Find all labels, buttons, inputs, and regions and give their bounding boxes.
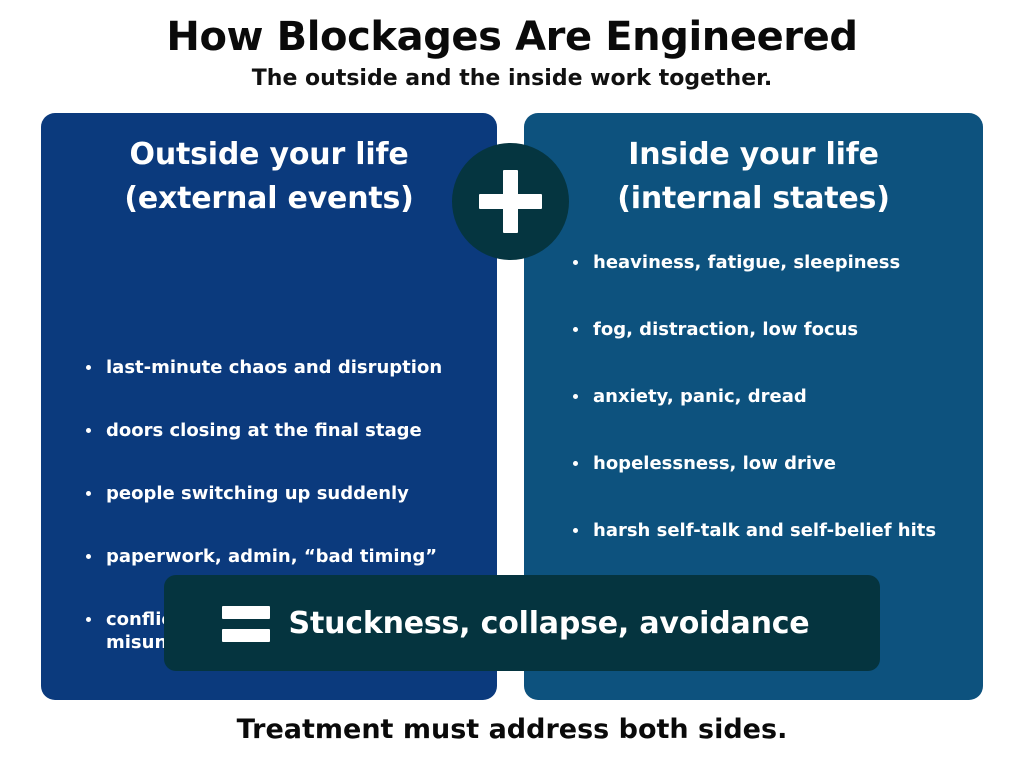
plus-icon-vertical-bar [503,170,518,233]
equals-icon-bottom-bar [222,629,270,642]
list-item: fog, distraction, low focus [573,318,971,341]
right-panel-heading-line1: Inside your life [628,137,878,172]
left-panel-heading-line1: Outside your life [130,137,409,172]
list-item: paperwork, admin, “bad timing” [86,545,483,568]
list-item: doors closing at the final stage [86,419,483,442]
right-panel-heading-line2: (internal states) [524,177,983,221]
list-item: heaviness, fatigue, sleepiness [573,251,971,274]
list-item: people switching up suddenly [86,482,483,505]
result-banner: Stuckness, collapse, avoidance [164,575,880,671]
list-item: harsh self-talk and self-belief hits [573,519,971,542]
result-banner-text: Stuckness, collapse, avoidance [270,606,880,641]
list-item: anxiety, panic, dread [573,385,971,408]
header: How Blockages Are Engineered The outside… [0,0,1024,92]
page-title: How Blockages Are Engineered [0,0,1024,60]
left-panel-heading: Outside your life (external events) [41,113,497,220]
right-panel-heading: Inside your life (internal states) [524,113,983,220]
list-item: hopelessness, low drive [573,452,971,475]
equals-icon [222,602,270,644]
plus-icon [452,143,569,260]
left-panel-heading-line2: (external events) [41,177,497,221]
footer-caption: Treatment must address both sides. [0,714,1024,745]
right-panel-bullet-list: heaviness, fatigue, sleepiness fog, dist… [524,251,983,586]
equals-icon-top-bar [222,606,270,619]
list-item: last-minute chaos and disruption [86,356,483,379]
page-subtitle: The outside and the inside work together… [0,60,1024,92]
